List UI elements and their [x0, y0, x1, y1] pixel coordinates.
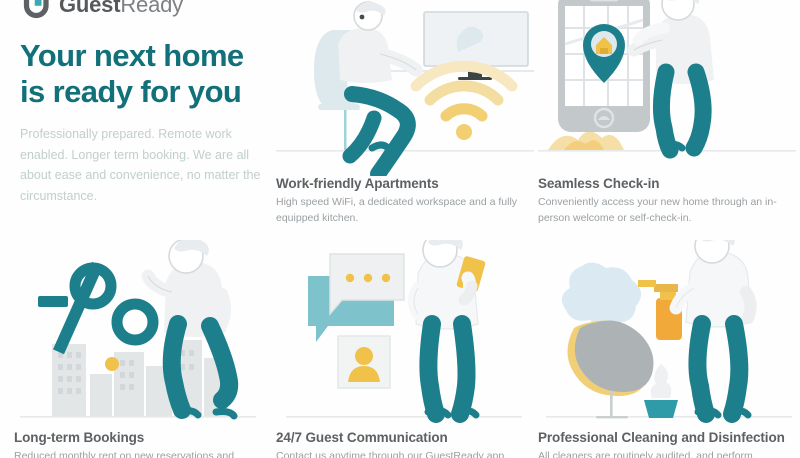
hero-title-line-1: Your next home [20, 38, 244, 73]
card-long-term-bookings: Long-term Bookings Reduced monthly rent … [14, 240, 272, 458]
illustration-chat-bubbles-person-phone [276, 240, 534, 430]
brand-logo[interactable]: GuestReady [22, 0, 183, 22]
card-title-work-friendly: Work-friendly Apartments [276, 176, 534, 191]
card-body-long-term-bookings: Reduced monthly rent on new reservations… [14, 449, 272, 458]
card-seamless-check-in: Seamless Check-in Conveniently access yo… [538, 0, 796, 227]
card-body-seamless-check-in: Conveniently access your new home throug… [538, 195, 796, 227]
brand-name-bold: Guest [59, 0, 120, 17]
illustration-phone-map-pin-person [538, 0, 796, 176]
card-work-friendly-apartments: Work-friendly Apartments High speed WiFi… [276, 0, 534, 227]
hero-block: Your next home is ready for you Professi… [20, 38, 280, 206]
card-body-work-friendly: High speed WiFi, a dedicated workspace a… [276, 195, 534, 227]
illustration-person-spray-bottle-chair [538, 240, 796, 430]
brand-name-light: Ready [120, 0, 183, 17]
card-title-professional-cleaning: Professional Cleaning and Disinfection [538, 430, 800, 445]
card-title-seamless-check-in: Seamless Check-in [538, 176, 796, 191]
card-body-professional-cleaning: All cleaners are routinely audited, and … [538, 449, 800, 458]
hero-title: Your next home is ready for you [20, 38, 280, 110]
hero-subtitle: Professionally prepared. Remote work ena… [20, 124, 280, 207]
card-professional-cleaning: Professional Cleaning and Disinfection A… [538, 240, 800, 458]
infographic-page: GuestReady Your next home is ready for y… [0, 0, 800, 458]
illustration-person-at-desk-with-wifi [276, 0, 534, 176]
hero-title-line-2: is ready for you [20, 74, 280, 110]
card-guest-communication: 24/7 Guest Communication Contact us anyt… [276, 240, 534, 458]
brand-name: GuestReady [59, 0, 183, 20]
card-body-guest-communication: Contact us anytime through our GuestRead… [276, 449, 534, 458]
card-title-long-term-bookings: Long-term Bookings [14, 430, 272, 445]
card-title-guest-communication: 24/7 Guest Communication [276, 430, 534, 445]
illustration-minus-percent-cityscape [14, 240, 272, 430]
guestready-g-mark-icon [22, 0, 52, 20]
